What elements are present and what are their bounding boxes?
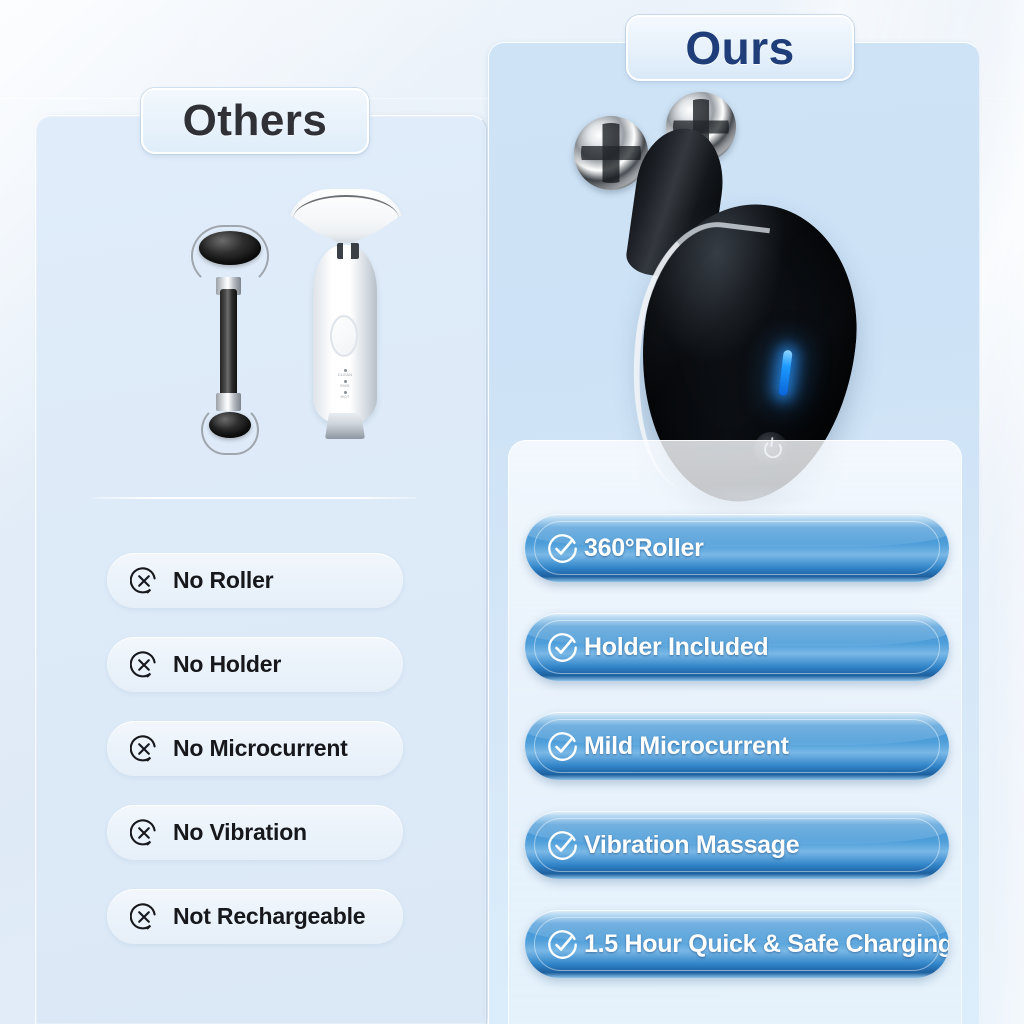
- x-circle-icon: [130, 567, 158, 595]
- list-item[interactable]: 1.5 Hour Quick & Safe Charging: [525, 910, 949, 978]
- list-item[interactable]: No Holder: [107, 637, 403, 692]
- check-circle-icon: [546, 928, 579, 961]
- list-item-label: No Microcurrent: [173, 735, 348, 762]
- list-item-label: Vibration Massage: [584, 831, 799, 860]
- list-item[interactable]: Holder Included: [525, 613, 949, 681]
- list-item[interactable]: Mild Microcurrent: [525, 712, 949, 780]
- roller-head-small: [209, 412, 251, 438]
- list-item-label: Not Rechargeable: [173, 903, 365, 930]
- neck-device-base: [325, 413, 365, 439]
- check-circle-icon: [546, 631, 579, 664]
- list-item[interactable]: No Microcurrent: [107, 721, 403, 776]
- check-circle-icon: [546, 532, 579, 565]
- ours-heading-badge: Ours: [626, 15, 854, 81]
- neck-device-prongs: [337, 243, 359, 259]
- others-heading-badge: Others: [141, 88, 369, 154]
- list-item[interactable]: No Vibration: [107, 805, 403, 860]
- ours-heading-label: Ours: [685, 21, 794, 75]
- list-item-label: 1.5 Hour Quick & Safe Charging: [584, 930, 949, 959]
- list-item-label: Mild Microcurrent: [584, 732, 789, 761]
- roller-handle: [220, 289, 237, 397]
- list-item[interactable]: No Roller: [107, 553, 403, 608]
- x-circle-icon: [130, 903, 158, 931]
- others-product-images: CLEAN EMS HOT: [35, 185, 487, 485]
- ours-feature-list: 360°Roller Holder Included Mild Microcur…: [525, 514, 949, 978]
- list-item-label: 360°Roller: [584, 534, 704, 563]
- roller-head-large: [199, 231, 261, 265]
- others-heading-label: Others: [183, 96, 328, 146]
- others-feature-list: No Roller No Holder No Microcurrent: [107, 553, 403, 944]
- ours-product-image: [548, 92, 878, 442]
- list-item-label: No Roller: [173, 567, 273, 594]
- list-item-label: Holder Included: [584, 633, 768, 662]
- others-divider: [92, 497, 417, 499]
- list-item[interactable]: Vibration Massage: [525, 811, 949, 879]
- roller-ball-pattern: [581, 123, 640, 182]
- white-neck-device-image: CLEAN EMS HOT: [287, 185, 405, 440]
- roller-collar-bottom: [216, 393, 241, 411]
- neck-device-power-button: [330, 315, 358, 357]
- list-item[interactable]: Not Rechargeable: [107, 889, 403, 944]
- x-circle-icon: [130, 819, 158, 847]
- x-circle-icon: [130, 735, 158, 763]
- list-item-label: No Holder: [173, 651, 281, 678]
- x-circle-icon: [130, 651, 158, 679]
- neck-device-indicator-lights: CLEAN EMS HOT: [331, 369, 359, 402]
- black-jade-roller-image: [176, 207, 280, 477]
- list-item[interactable]: 360°Roller: [525, 514, 949, 582]
- check-circle-icon: [546, 829, 579, 862]
- list-item-label: No Vibration: [173, 819, 307, 846]
- check-circle-icon: [546, 730, 579, 763]
